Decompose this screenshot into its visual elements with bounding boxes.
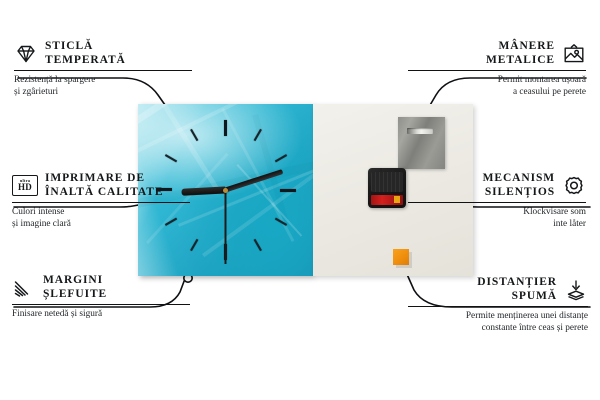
callout-title: MECANISM SILENȚIOS xyxy=(483,172,555,199)
diamond-icon xyxy=(14,43,38,65)
clock-second-hand xyxy=(225,190,227,264)
battery-plus-terminal xyxy=(394,196,400,203)
callout-head: MÂNERE METALICE xyxy=(408,40,586,67)
clock-center-cap xyxy=(223,188,228,193)
gear-icon xyxy=(562,175,586,197)
mechanism-battery xyxy=(371,195,403,205)
foam-spacer-pad xyxy=(393,249,409,265)
callout-head: MARGINI ȘLEFUITE xyxy=(12,274,190,301)
callout-divider xyxy=(14,70,192,71)
metal-hanger-plate xyxy=(398,117,445,169)
callout-silent-mechanism: MECANISM SILENȚIOS Klockvisare som inte … xyxy=(408,172,586,230)
callout-title: STICLĂ TEMPERATĂ xyxy=(45,40,126,67)
callout-metal-handles: MÂNERE METALICE Permit montarea ușoară a… xyxy=(408,40,586,98)
polished-edges-icon xyxy=(12,277,36,299)
infographic-stage: STICLĂ TEMPERATĂ Rezistență la spargere … xyxy=(0,0,600,400)
callout-divider xyxy=(408,70,586,71)
callout-head: MECANISM SILENȚIOS xyxy=(408,172,586,199)
callout-divider xyxy=(12,202,190,203)
picture-frame-icon xyxy=(562,43,586,65)
callout-polished-edges: MARGINI ȘLEFUITE Finisare netedă și sigu… xyxy=(12,274,190,321)
callout-divider xyxy=(12,304,190,305)
callout-title: DISTANȚIER SPUMĂ xyxy=(477,276,557,303)
callout-foam-spacer: DISTANȚIER SPUMĂ Permite menținerea unei… xyxy=(408,276,588,334)
callout-title: IMPRIMARE DE ÎNALTĂ CALITATE xyxy=(45,172,163,199)
callout-tempered-glass: STICLĂ TEMPERATĂ Rezistență la spargere … xyxy=(14,40,192,98)
callout-head: DISTANȚIER SPUMĂ xyxy=(408,276,588,303)
callout-divider xyxy=(408,306,588,307)
callout-head: STICLĂ TEMPERATĂ xyxy=(14,40,192,67)
ultra-hd-icon: ultra HD xyxy=(12,175,38,196)
hanger-keyhole-slot xyxy=(407,128,433,134)
callout-title: MÂNERE METALICE xyxy=(486,40,555,67)
callout-title: MARGINI ȘLEFUITE xyxy=(43,274,107,301)
mechanism-housing xyxy=(371,172,403,192)
callout-divider xyxy=(408,202,586,203)
callout-head: ultra HD IMPRIMARE DE ÎNALTĂ CALITATE xyxy=(12,172,190,199)
press-down-icon xyxy=(564,279,588,301)
callout-high-quality-print: ultra HD IMPRIMARE DE ÎNALTĂ CALITATE Cu… xyxy=(12,172,190,230)
quartz-mechanism xyxy=(368,168,406,208)
